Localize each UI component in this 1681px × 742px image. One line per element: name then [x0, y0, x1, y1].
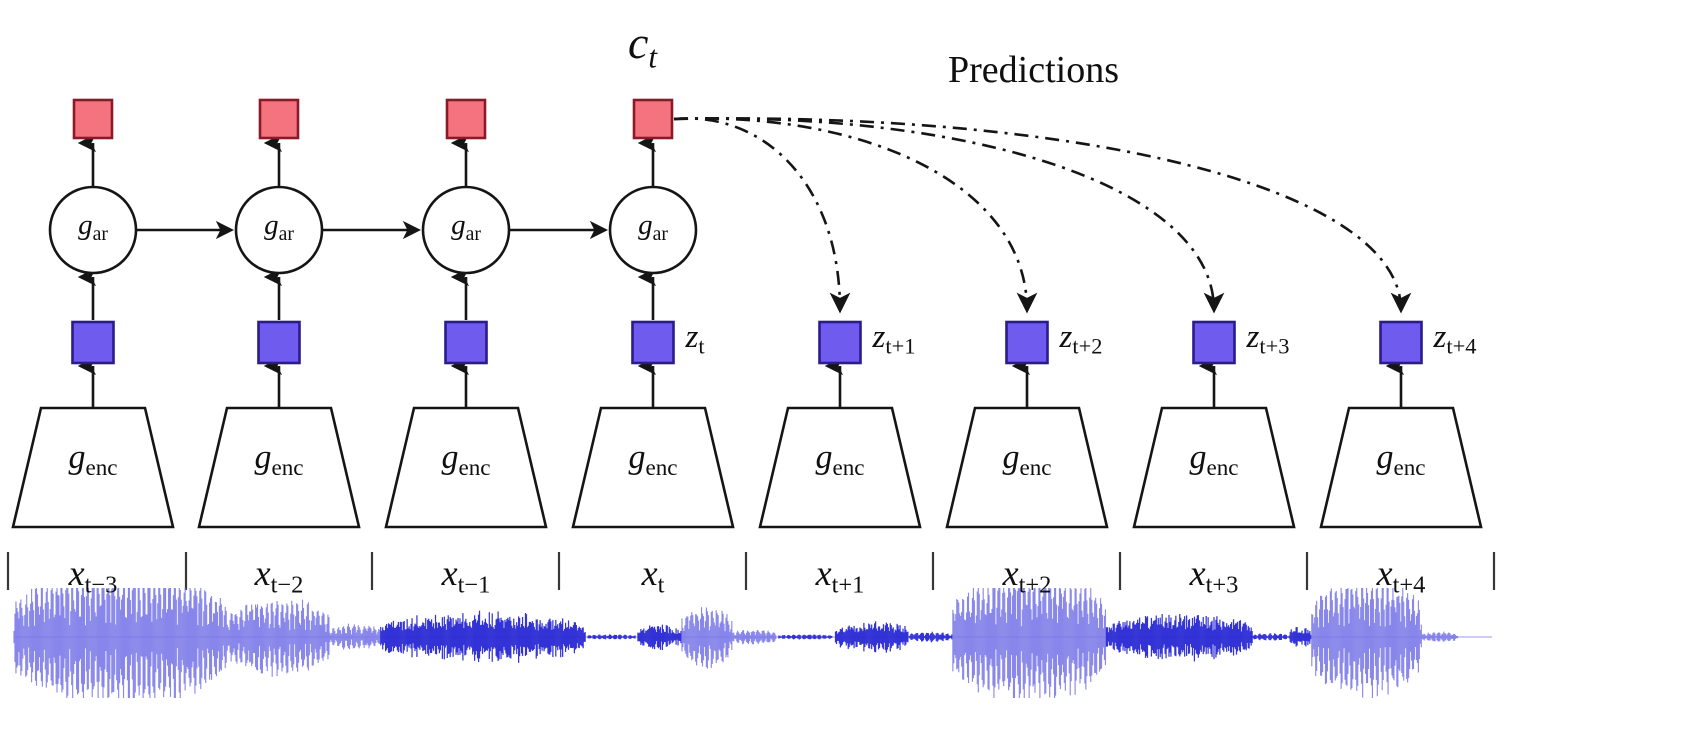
timestep-label-t: xt [642, 552, 665, 599]
arrow-group [93, 143, 1401, 408]
latent-square-t-3 [73, 322, 114, 363]
predictions-label: Predictions [948, 48, 1119, 92]
timestep-label-t+4: xt+4 [1377, 552, 1426, 599]
prediction-arc-t+1 [674, 118, 840, 310]
context-square-t-1 [447, 100, 485, 138]
timestep-label-t+2: xt+2 [1003, 552, 1052, 599]
ar-label-t: gar [638, 209, 668, 246]
latent-square-t [633, 322, 674, 363]
timestep-label-t-3: xt−3 [69, 552, 118, 599]
encoder-label-t-2: genc [254, 439, 303, 482]
latent-square-t+4 [1381, 322, 1422, 363]
latent-square-t+3 [1194, 322, 1235, 363]
timestep-label-t+3: xt+3 [1190, 552, 1239, 599]
encoder-group [13, 408, 1481, 527]
encoder-label-t-1: genc [441, 439, 490, 482]
context-square-t [634, 100, 672, 138]
latent-square-t-2 [259, 322, 300, 363]
context-square-t-3 [74, 100, 112, 138]
latent-label-t+1: zt+1 [873, 319, 916, 360]
latent-square-t+1 [820, 322, 861, 363]
encoder-label-t-3: genc [68, 439, 117, 482]
encoder-label-t: genc [628, 439, 677, 482]
encoder-label-t+2: genc [1002, 439, 1051, 482]
timestep-label-t-1: xt−1 [442, 552, 491, 599]
encoder-label-t+1: genc [815, 439, 864, 482]
latent-label-t: zt [686, 319, 705, 360]
encoder-label-t+3: genc [1189, 439, 1238, 482]
latent-label-t+3: zt+3 [1247, 319, 1290, 360]
encoder-label-t+4: genc [1376, 439, 1425, 482]
prediction-arc-t+4 [674, 118, 1401, 310]
prediction-arc-group [674, 118, 1401, 310]
figure-canvas: ct Predictions gencgarxt−3gencgarxt−2gen… [0, 0, 1681, 742]
ar-label-t-2: gar [264, 209, 294, 246]
latent-square-t+2 [1007, 322, 1048, 363]
timestep-label-t-2: xt−2 [255, 552, 304, 599]
separator-group [8, 552, 1494, 590]
ar-label-t-1: gar [451, 209, 481, 246]
diagram-svg [0, 0, 1681, 742]
context-vector-label: ct [628, 16, 657, 75]
timestep-label-t+1: xt+1 [816, 552, 865, 599]
ar-label-t-3: gar [78, 209, 108, 246]
context-square-t-2 [260, 100, 298, 138]
latent-label-t+4: zt+4 [1434, 319, 1477, 360]
latent-square-t-1 [446, 322, 487, 363]
latent-label-t+2: zt+2 [1060, 319, 1103, 360]
waveform-group [14, 569, 1492, 707]
prediction-arc-t+2 [674, 118, 1027, 310]
prediction-arc-t+3 [674, 118, 1214, 310]
